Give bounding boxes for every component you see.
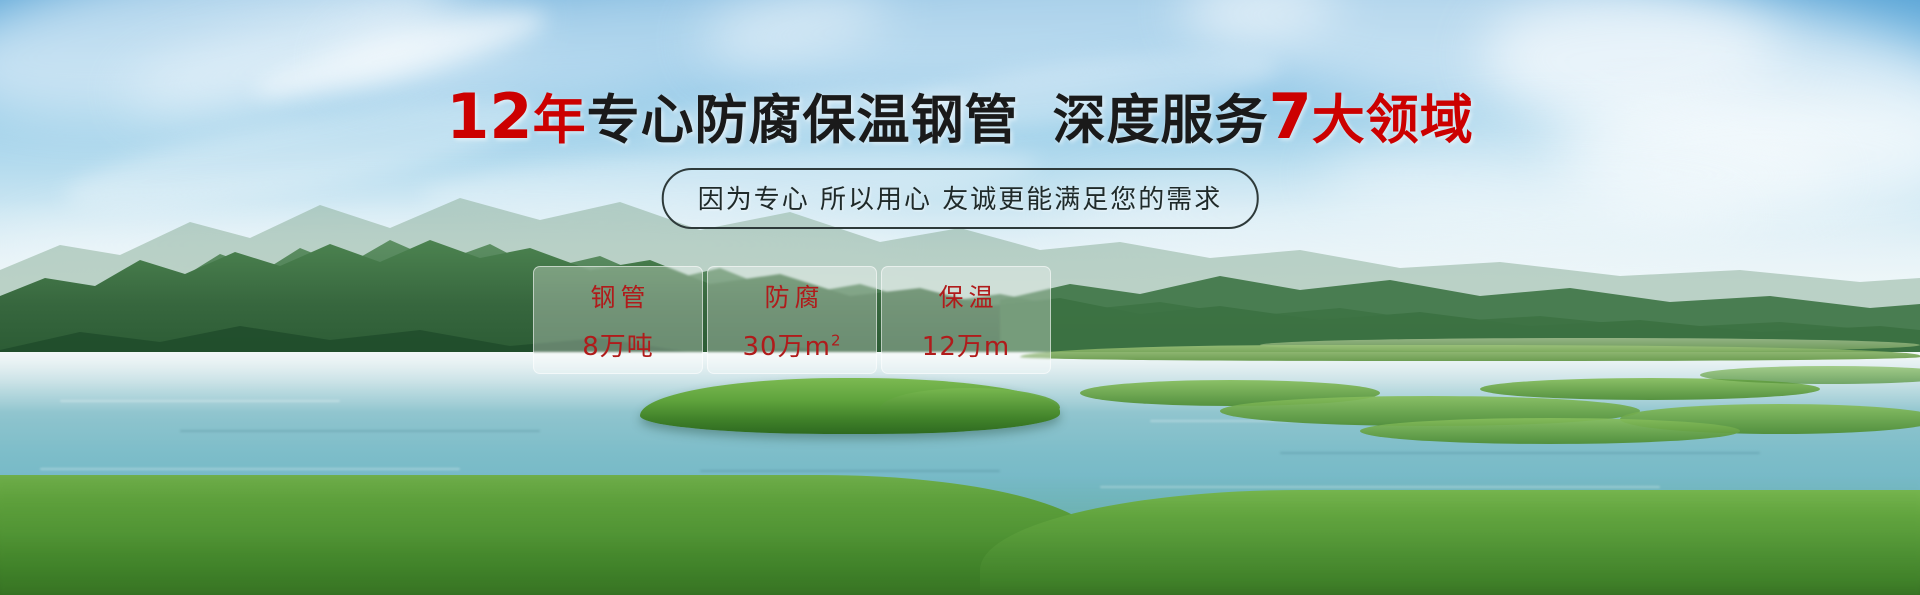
stat-card-value: 8万吨: [582, 326, 654, 363]
headline-service-text: 深度服务: [1053, 90, 1269, 151]
stat-card-value-text: 8万吨: [582, 332, 654, 362]
headline-years-number: 12: [446, 80, 532, 153]
headline-fields-text: 大领域: [1312, 90, 1474, 151]
headline-fields-number: 7: [1269, 80, 1312, 153]
stat-card-group: 钢管 8万吨 防腐 30万m2 保温 12万m: [533, 266, 1051, 374]
hero-banner: 12年专心防腐保温钢管深度服务7大领域 因为专心 所以用心 友诚更能满足您的需求…: [0, 0, 1920, 595]
stat-card-steel-pipe: 钢管 8万吨: [533, 266, 703, 374]
stat-card-value-superscript: 2: [831, 331, 842, 349]
stat-card-label: 钢管: [585, 278, 650, 314]
headline-years-unit: 年: [533, 90, 587, 151]
stat-card-value-text: 12万m: [922, 332, 1010, 362]
banner-headline: 12年专心防腐保温钢管深度服务7大领域: [0, 86, 1920, 148]
stat-card-value-text: 30万m: [743, 332, 831, 362]
headline-main-text: 专心防腐保温钢管: [587, 90, 1019, 151]
stat-card-insulation: 保温 12万m: [881, 266, 1051, 374]
subtitle-pill: 因为专心 所以用心 友诚更能满足您的需求: [662, 168, 1259, 229]
stat-card-label: 保温: [933, 278, 998, 314]
banner-content: 12年专心防腐保温钢管深度服务7大领域 因为专心 所以用心 友诚更能满足您的需求…: [0, 0, 1920, 595]
stat-card-label: 防腐: [759, 278, 824, 314]
stat-card-anticorrosion: 防腐 30万m2: [707, 266, 877, 374]
stat-card-value: 30万m2: [743, 326, 842, 363]
stat-card-value: 12万m: [922, 326, 1010, 363]
